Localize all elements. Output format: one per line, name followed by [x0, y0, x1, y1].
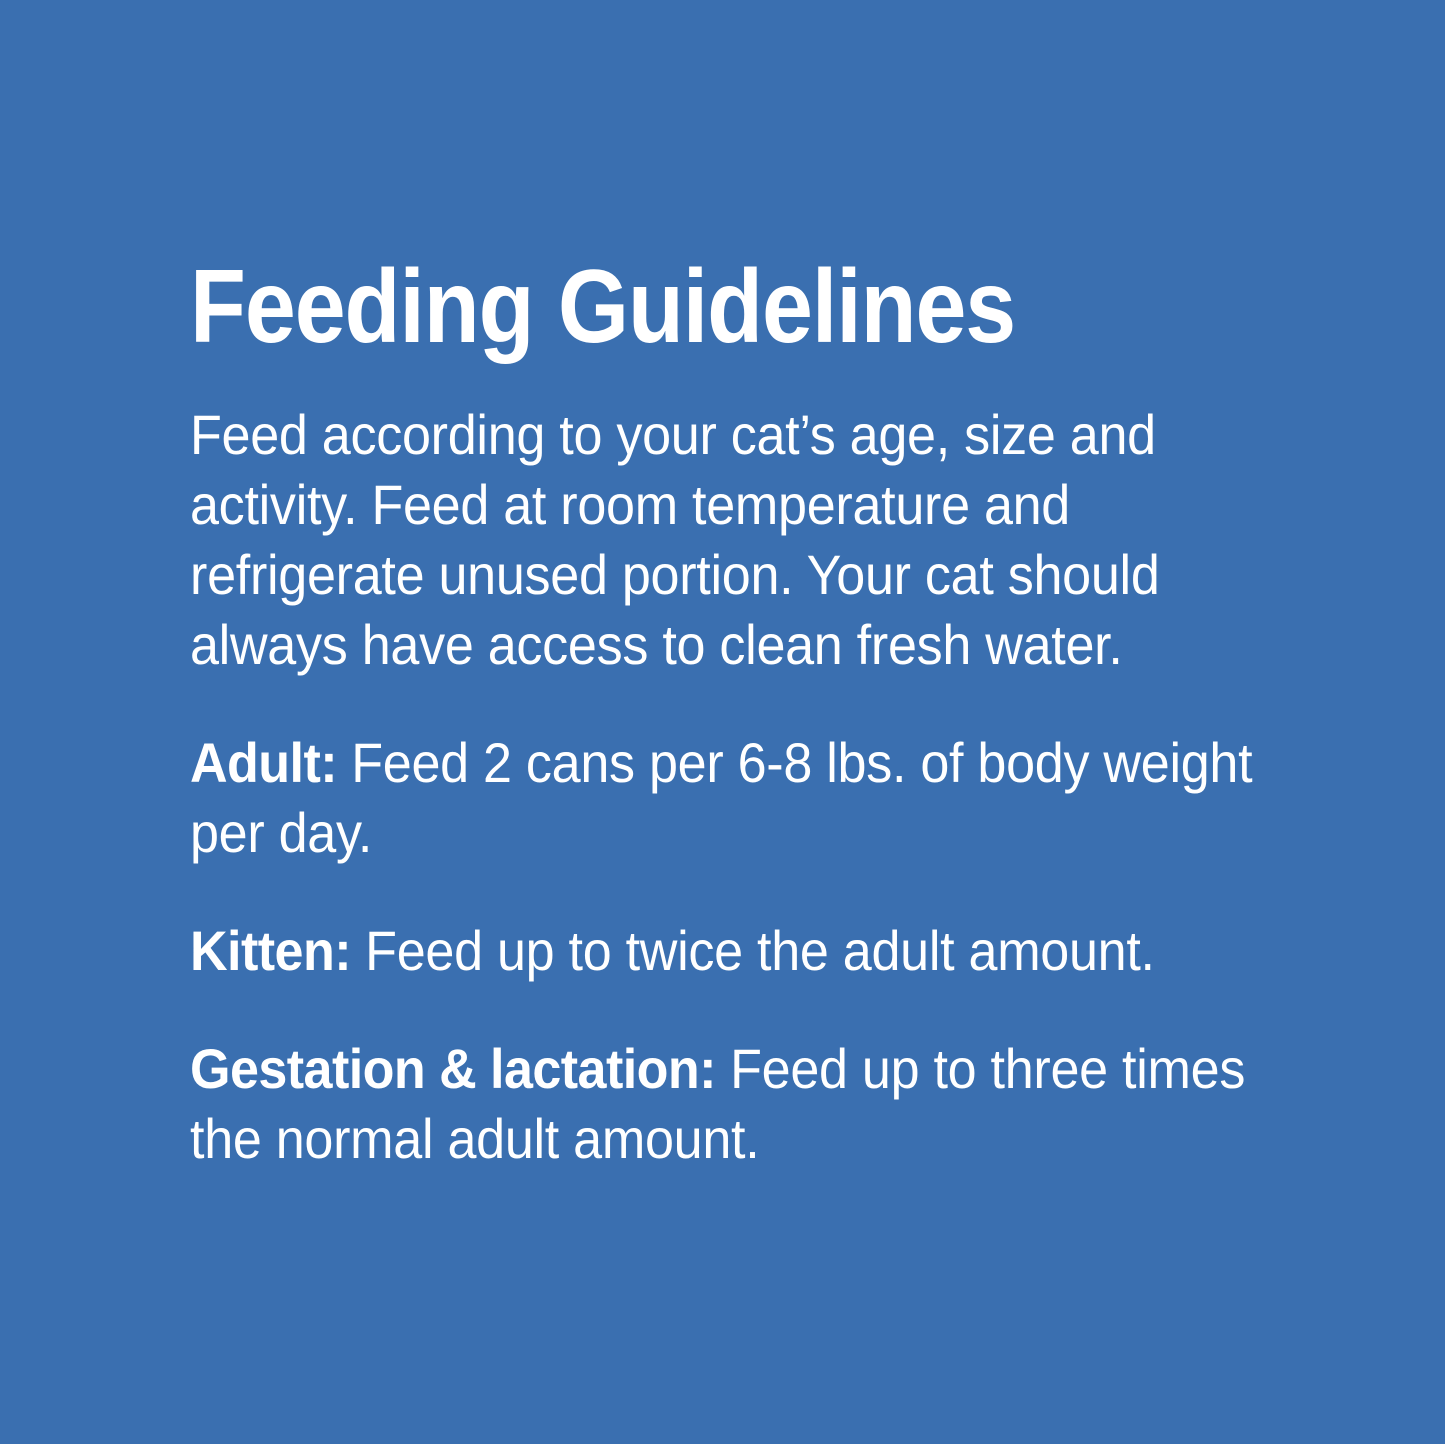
page-title: Feeding Guidelines	[190, 252, 1145, 362]
guideline-gestation-lactation-label: Gestation & lactation:	[190, 1037, 716, 1100]
content-column: Feeding Guidelines Feed according to you…	[190, 252, 1275, 1174]
guideline-kitten: Kitten: Feed up to twice the adult amoun…	[190, 916, 1274, 986]
feeding-guidelines-panel: Feeding Guidelines Feed according to you…	[0, 0, 1445, 1444]
guideline-kitten-label: Kitten:	[190, 919, 351, 982]
guideline-gestation-lactation: Gestation & lactation: Feed up to three …	[190, 1034, 1274, 1174]
guideline-adult: Adult: Feed 2 cans per 6-8 lbs. of body …	[190, 728, 1274, 868]
body-text-block: Feed according to your cat’s age, size a…	[190, 400, 1274, 1174]
guideline-adult-text: Feed 2 cans per 6-8 lbs. of body weight …	[190, 731, 1252, 864]
guideline-adult-label: Adult:	[190, 731, 337, 794]
guideline-kitten-text: Feed up to twice the adult amount.	[351, 919, 1155, 982]
intro-paragraph: Feed according to your cat’s age, size a…	[190, 400, 1274, 680]
